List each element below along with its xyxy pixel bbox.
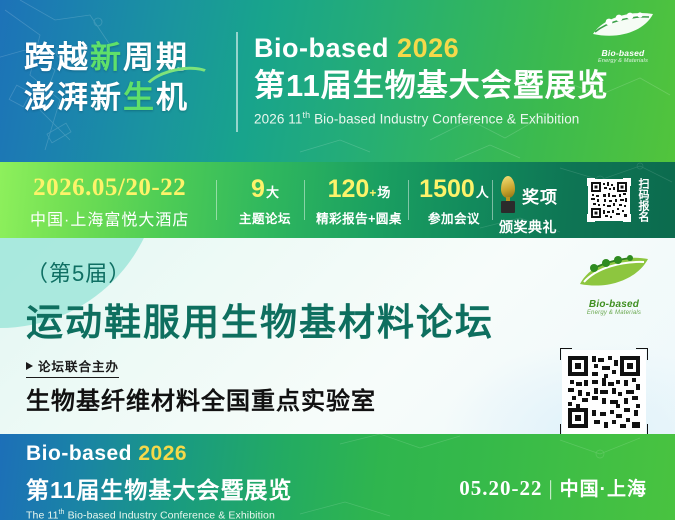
header-titles: Bio-based 2026 第11届生物基大会暨展览 2026 11th Bi… [254, 34, 609, 127]
event-venue: 中国·上海富悦大酒店 [30, 206, 189, 230]
forum-title: 运动鞋服用生物基材料论坛 [26, 292, 494, 346]
organizer-tag-label: 论坛联合主办 [38, 356, 119, 375]
qr-corner-bl-icon [587, 214, 595, 222]
forum-section: （第5届） 运动鞋服用生物基材料论坛 论坛联合主办 生物基纤维材料全国重点实验室… [0, 238, 675, 434]
stat-caption-sessions: 精彩报告+圆桌 [310, 208, 408, 227]
header-title-cn: 第11届生物基大会暨展览 [254, 69, 609, 103]
leaf-molecule-icon-color [572, 252, 656, 292]
qr-corner-tl-icon [587, 178, 595, 186]
bio-based-logo-header: Bio-based Energy & Materials [585, 8, 661, 64]
qr-main-corner-tl-icon [560, 348, 572, 360]
footer-titles: Bio-based 2026 第11届生物基大会暨展览 The 11th Bio… [26, 442, 292, 520]
qr-code-icon-stats[interactable] [588, 179, 630, 221]
stat-number-attendees: 1500人 [414, 176, 494, 204]
stats-separator-3 [408, 180, 409, 220]
header-title-en: 2026 11th Bio-based Industry Conference … [254, 110, 609, 127]
scan-to-register-label-stats: 扫码报名 [636, 178, 649, 222]
conference-poster: 跨越新周期 澎湃新生机 Bio-based 2026 第11届生物基大会暨展览 … [0, 0, 675, 520]
bio-based-logo-middle: Bio-based Energy & Materials [572, 252, 656, 316]
footer-date-city: 05.20-22|中国·上海 [459, 474, 647, 501]
qr-main-corner-bl-icon [560, 424, 572, 434]
organizer-tag: 论坛联合主办 [26, 356, 119, 375]
header-divider [236, 32, 238, 132]
award-subtitle: 颁奖典礼 [498, 217, 558, 237]
organizer-name: 生物基纤维材料全国重点实验室 [26, 381, 376, 416]
award-block: 奖项 颁奖典礼 [498, 176, 558, 237]
logo-sub-header: Energy & Materials [585, 58, 661, 64]
stat-number-forums: 9大 [226, 176, 304, 204]
footer-title-cn: 第11届生物基大会暨展览 [26, 471, 292, 505]
footer-separator: | [548, 476, 553, 500]
stat-item-attendees: 1500人 参加会议 [414, 176, 494, 227]
stat-caption-forums: 主题论坛 [226, 208, 304, 227]
stats-bar: 2026.05/20-22 中国·上海富悦大酒店 9大 主题论坛 120+场 精… [0, 162, 675, 238]
poster-slogan: 跨越新周期 澎湃新生机 [24, 38, 232, 119]
stats-separator-4 [492, 180, 493, 220]
stats-separator-2 [304, 180, 305, 220]
footer-city: 中国·上海 [560, 479, 647, 500]
poster-header: 跨越新周期 澎湃新生机 Bio-based 2026 第11届生物基大会暨展览 … [0, 0, 675, 162]
poster-footer: Bio-based 2026 第11届生物基大会暨展览 The 11th Bio… [0, 434, 675, 520]
forum-edition: （第5届） [26, 256, 131, 288]
logo-name-header: Bio-based [585, 48, 661, 58]
stat-caption-attendees: 参加会议 [414, 208, 494, 227]
event-date: 2026.05/20-22 [30, 174, 189, 203]
award-title: 奖项 [522, 183, 558, 208]
qr-corner-br-icon [623, 214, 631, 222]
header-brand-line: Bio-based 2026 [254, 34, 609, 62]
footer-title-en: The 11th Bio-based Industry Conference &… [26, 509, 292, 520]
trophy-icon [498, 176, 518, 214]
organizer-tag-underline [26, 377, 119, 379]
qr-main-corner-br-icon [636, 424, 648, 434]
stat-item-sessions: 120+场 精彩报告+圆桌 [310, 176, 408, 227]
leaf-molecule-icon [585, 8, 661, 42]
stats-separator-1 [216, 180, 217, 220]
stat-item-forums: 9大 主题论坛 [226, 176, 304, 227]
qr-corner-tr-icon [623, 178, 631, 186]
triangle-bullet-icon [26, 362, 33, 370]
event-date-block: 2026.05/20-22 中国·上海富悦大酒店 [30, 174, 189, 230]
footer-date: 05.20-22 [459, 476, 542, 500]
qr-code-pattern-main [564, 352, 644, 432]
qr-main-corner-tr-icon [636, 348, 648, 360]
footer-brand-line: Bio-based 2026 [26, 442, 292, 466]
logo-sub-middle: Energy & Materials [572, 310, 656, 316]
qr-code-registration[interactable] [562, 350, 646, 434]
stat-number-sessions: 120+场 [310, 176, 408, 204]
logo-name-middle: Bio-based [572, 299, 656, 310]
